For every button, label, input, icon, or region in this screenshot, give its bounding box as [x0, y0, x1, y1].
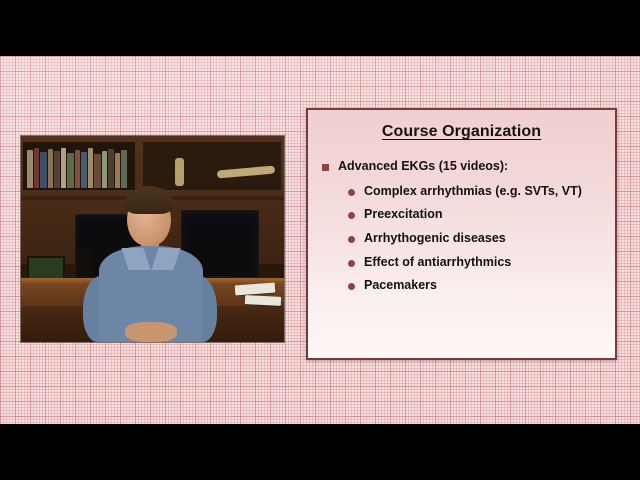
- bullet-text: Pacemakers: [364, 278, 437, 294]
- disc-bullet-icon: [348, 283, 355, 290]
- bullet-text: Advanced EKGs (15 videos):: [338, 159, 508, 175]
- bullet-text: Effect of antiarrhythmics: [364, 255, 511, 271]
- book: [27, 150, 33, 188]
- book: [115, 153, 120, 188]
- bullet-item-level2: Effect of antiarrhythmics: [348, 255, 615, 271]
- bullet-text: Complex arrhythmias (e.g. SVTs, VT): [364, 184, 582, 200]
- book: [102, 151, 107, 188]
- presentation-slide: Course Organization Advanced EKGs (15 vi…: [306, 108, 617, 360]
- book: [75, 150, 80, 188]
- presenter-hands: [125, 322, 177, 342]
- video-scene: [21, 136, 284, 342]
- letterbox-bar-bottom: [0, 424, 640, 480]
- bullet-text: Arrhythogenic diseases: [364, 231, 506, 247]
- book: [40, 152, 47, 188]
- desk-paper: [245, 295, 281, 306]
- desk-lamp: [77, 248, 93, 282]
- presenter-video-thumbnail[interactable]: [21, 136, 284, 342]
- video-player-stage: Course Organization Advanced EKGs (15 vi…: [0, 0, 640, 480]
- square-bullet-icon: [322, 164, 329, 171]
- disc-bullet-icon: [348, 260, 355, 267]
- book: [61, 148, 66, 188]
- book: [88, 148, 93, 188]
- book: [81, 152, 87, 188]
- bullet-text: Preexcitation: [364, 207, 443, 223]
- disc-bullet-icon: [348, 212, 355, 219]
- shelf-figurine: [175, 158, 184, 186]
- disc-bullet-icon: [348, 236, 355, 243]
- bullet-item-level2: Preexcitation: [348, 207, 615, 223]
- bullet-item-level2: Arrhythogenic diseases: [348, 231, 615, 247]
- letterbox-bar-top: [0, 0, 640, 56]
- slide-bullet-list: Advanced EKGs (15 videos):Complex arrhyt…: [308, 159, 615, 294]
- book: [108, 149, 114, 188]
- bullet-item-level2: Complex arrhythmias (e.g. SVTs, VT): [348, 184, 615, 200]
- book: [54, 151, 60, 188]
- bullet-item-level2: Pacemakers: [348, 278, 615, 294]
- book: [34, 148, 39, 188]
- book: [67, 153, 74, 188]
- book: [121, 150, 127, 188]
- book: [48, 149, 53, 188]
- book: [94, 154, 101, 188]
- disc-bullet-icon: [348, 189, 355, 196]
- slide-title: Course Organization: [308, 123, 615, 141]
- bullet-item-level1: Advanced EKGs (15 videos):: [322, 159, 615, 175]
